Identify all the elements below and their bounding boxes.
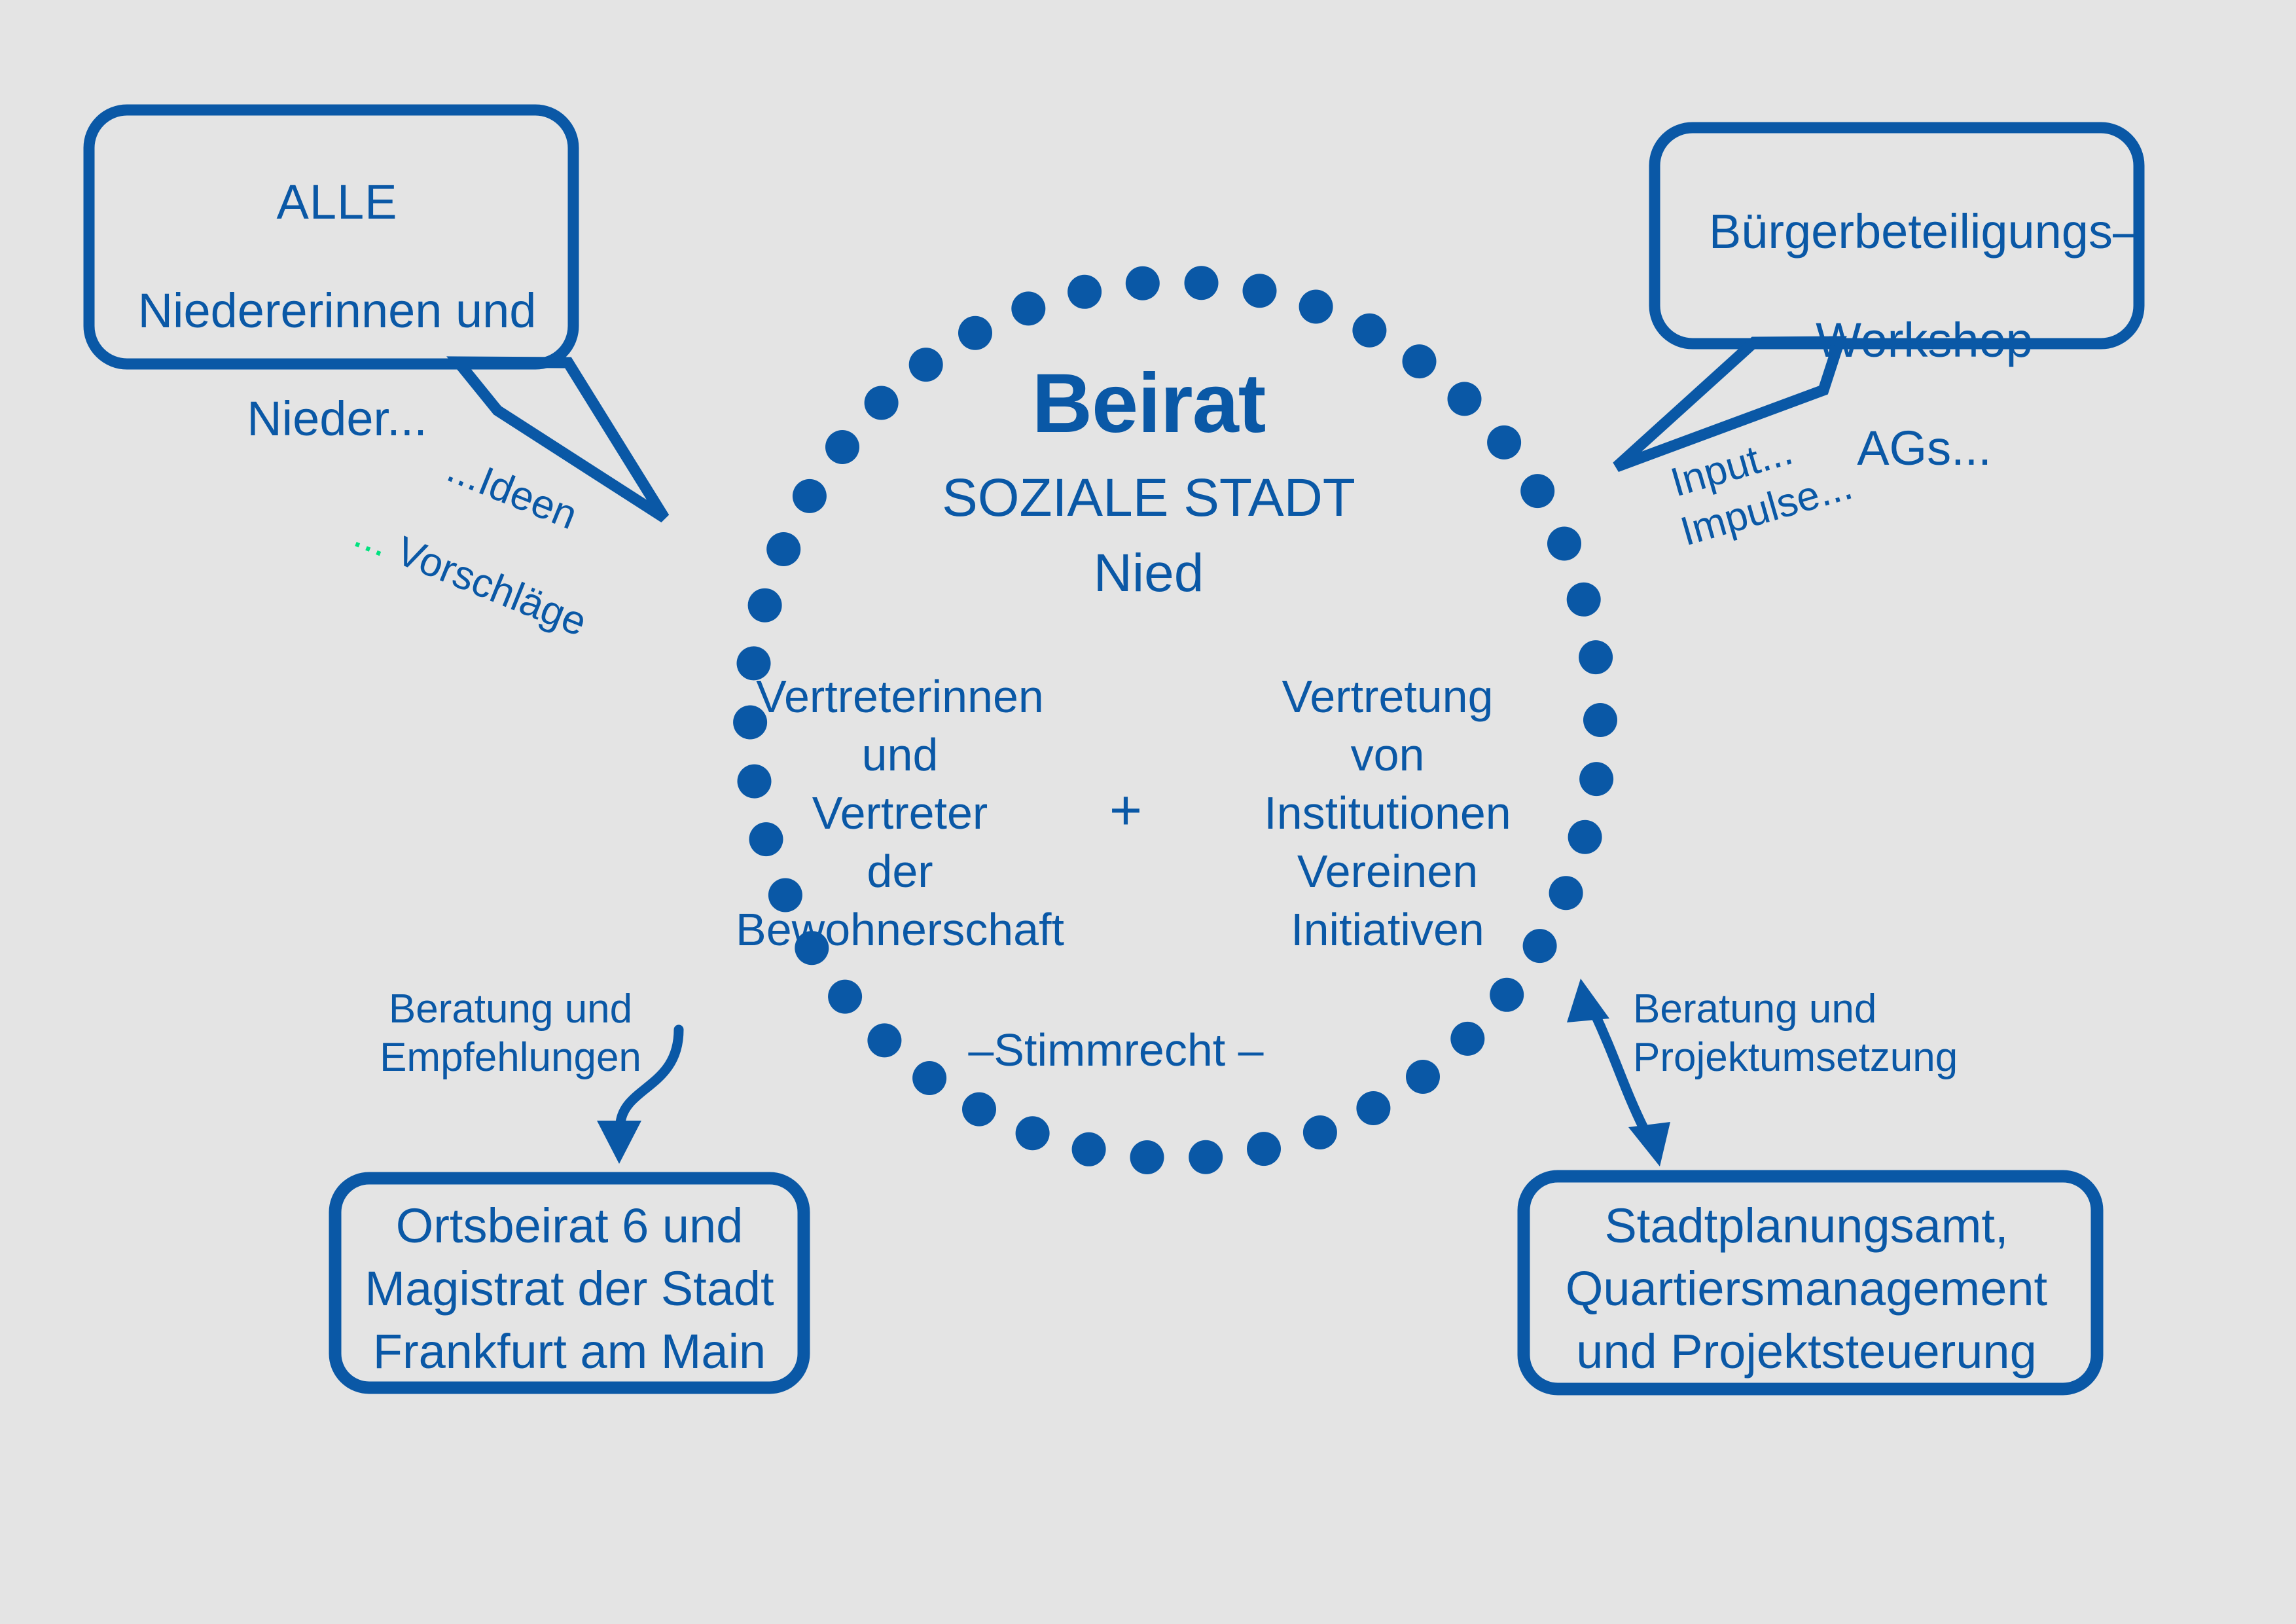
bubble-tl-line1: ALLE [98, 175, 576, 230]
box-bottom-left-text: Ortsbeirat 6 und Magistrat der Stadt Fra… [334, 1195, 805, 1384]
bubble-top-left-text: ALLE Niedererinnen und Nieder... [98, 121, 576, 446]
arrowhead-down-left [597, 1121, 641, 1164]
members-column-left: Vertreterinnen und Vertreter der Bewohne… [697, 668, 1103, 958]
bubble-tl-line3: Nieder... [247, 391, 427, 446]
bubble-tl-line2: Niedererinnen und [138, 283, 537, 338]
center-subtitle-line1: SOZIALE STADT [779, 468, 1518, 528]
arrowhead-down-right [1628, 1122, 1670, 1166]
members-column-right: Vertretung von Institutionen Vereinen In… [1185, 668, 1590, 958]
bubble-top-right-text: Bürgerbeteiligungs– Workshop AGs... [1682, 151, 2166, 476]
arrowhead-up-left [1567, 979, 1609, 1022]
plus-sign: + [1077, 779, 1175, 842]
center-subtitle-line2: Nied [779, 543, 1518, 604]
bubble-tr-line1: Bürgerbeteiligungs– [1709, 204, 2140, 259]
box-bottom-right-text: Stadtplanungsamt, Quartiersmanagement un… [1512, 1195, 2101, 1384]
diagram-canvas: ALLE Niedererinnen und Nieder... Bürgerb… [0, 0, 2296, 1624]
bubble-tr-line2: Workshop [1816, 313, 2033, 367]
label-beratung-projektumsetzung: Beratung und Projektumsetzung [1633, 985, 2000, 1083]
center-title: Beirat [779, 357, 1518, 450]
label-beratung-empfehlungen: Beratung und Empfehlungen [363, 985, 658, 1083]
bubble-tr-line3: AGs... [1857, 421, 1992, 475]
stimmrecht-note: –Stimmrecht – [920, 1024, 1312, 1075]
